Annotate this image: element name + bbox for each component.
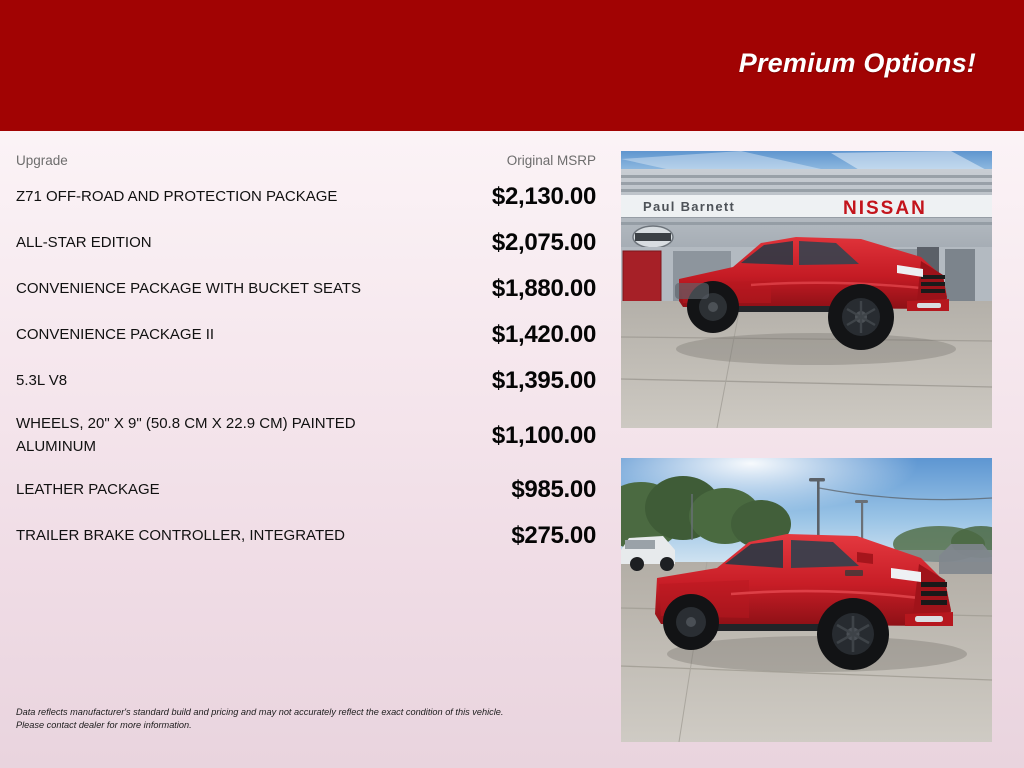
table-row: TRAILER BRAKE CONTROLLER, INTEGRATED $27…	[0, 513, 612, 559]
vehicle-photo-dealership: Paul Barnett NISSAN	[621, 151, 992, 428]
header-banner: Premium Options!	[0, 0, 1024, 131]
disclaimer-text: Data reflects manufacturer's standard bu…	[16, 706, 596, 732]
vehicle-photo-dealership-graphic: Paul Barnett NISSAN	[621, 151, 992, 428]
upgrade-price: $1,395.00	[420, 358, 612, 404]
upgrade-label: 5.3L V8	[0, 358, 420, 404]
table-row: 5.3L V8 $1,395.00	[0, 358, 612, 404]
table-row: LEATHER PACKAGE $985.00	[0, 467, 612, 513]
premium-options-table: Upgrade Original MSRP Z71 OFF-ROAD AND P…	[0, 131, 612, 559]
upgrade-price: $2,130.00	[420, 174, 612, 220]
upgrade-label: LEATHER PACKAGE	[0, 467, 420, 513]
upgrade-label: CONVENIENCE PACKAGE WITH BUCKET SEATS	[0, 266, 420, 312]
table-row: CONVENIENCE PACKAGE WITH BUCKET SEATS $1…	[0, 266, 612, 312]
table-row: Z71 OFF-ROAD AND PROTECTION PACKAGE $2,1…	[0, 174, 612, 220]
table-row: ALL-STAR EDITION $2,075.00	[0, 220, 612, 266]
options-table-area: Upgrade Original MSRP Z71 OFF-ROAD AND P…	[0, 131, 612, 768]
page-title: Premium Options!	[739, 48, 976, 79]
upgrade-price: $275.00	[420, 513, 612, 559]
upgrade-price: $1,880.00	[420, 266, 612, 312]
table-body: Z71 OFF-ROAD AND PROTECTION PACKAGE $2,1…	[0, 174, 612, 559]
upgrade-label: Z71 OFF-ROAD AND PROTECTION PACKAGE	[0, 174, 420, 220]
upgrade-price: $985.00	[420, 467, 612, 513]
vehicle-photo-lot	[621, 458, 992, 742]
disclaimer-line-1: Data reflects manufacturer's standard bu…	[16, 706, 596, 719]
upgrade-label: TRAILER BRAKE CONTROLLER, INTEGRATED	[0, 513, 420, 559]
svg-text:Paul Barnett: Paul Barnett	[643, 199, 735, 214]
svg-text:NISSAN: NISSAN	[843, 198, 927, 219]
upgrade-label: WHEELS, 20" X 9" (50.8 CM X 22.9 CM) PAI…	[0, 404, 420, 467]
vehicle-photo-lot-graphic	[621, 458, 992, 742]
table-header-row: Upgrade Original MSRP	[0, 131, 612, 174]
upgrade-label: CONVENIENCE PACKAGE II	[0, 312, 420, 358]
column-header-msrp: Original MSRP	[420, 131, 612, 174]
table-row: CONVENIENCE PACKAGE II $1,420.00	[0, 312, 612, 358]
disclaimer-line-2: Please contact dealer for more informati…	[16, 719, 596, 732]
upgrade-price: $1,420.00	[420, 312, 612, 358]
table-row: WHEELS, 20" X 9" (50.8 CM X 22.9 CM) PAI…	[0, 404, 612, 467]
column-header-upgrade: Upgrade	[0, 131, 420, 174]
upgrade-label: ALL-STAR EDITION	[0, 220, 420, 266]
upgrade-price: $1,100.00	[420, 404, 612, 467]
premium-options-page: Premium Options! Upgrade Original MSRP Z…	[0, 0, 1024, 768]
upgrade-price: $2,075.00	[420, 220, 612, 266]
